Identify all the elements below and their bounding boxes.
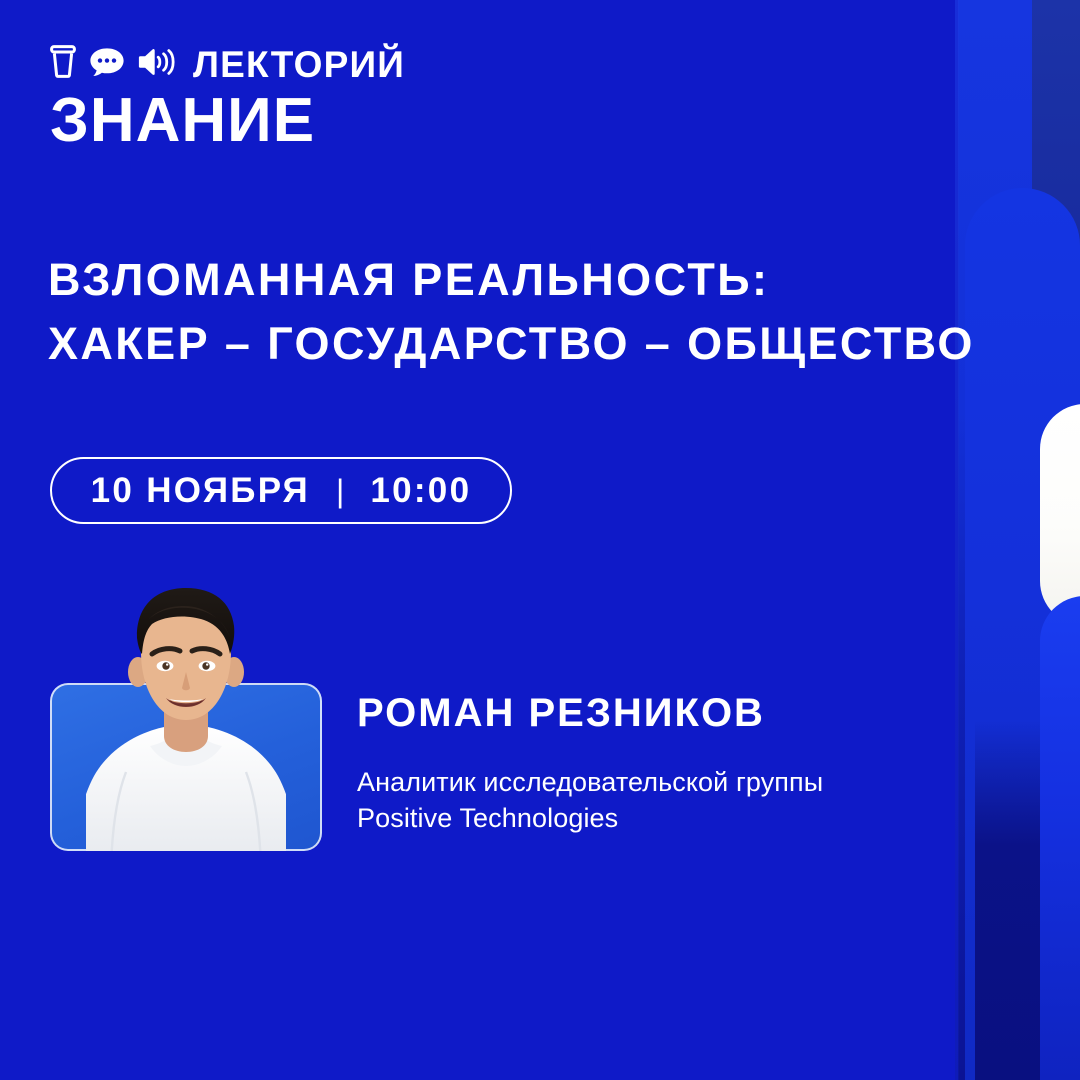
logo-lektoriy-text: ЛЕКТОРИЙ (193, 46, 405, 83)
speaker-avatar (50, 576, 322, 866)
event-time-text: 10:00 (370, 473, 471, 508)
decorative-navy-gradient (975, 720, 1045, 1080)
logo-znanie-text: ЗНАНИЕ (50, 90, 405, 152)
decorative-dark-blue-strip (1032, 0, 1080, 1080)
speaker-role-line-1: Аналитик исследовательской группы (357, 764, 957, 800)
speaker-details: РОМАН РЕЗНИКОВ Аналитик исследовательско… (357, 693, 957, 836)
decorative-arch-shape (965, 188, 1080, 1080)
decorative-bright-blue-strip (958, 0, 1032, 1080)
speaker-role-line-2: Positive Technologies (357, 800, 957, 836)
coffee-cup-icon (50, 45, 76, 83)
decorative-blue-rounded-shape (1040, 596, 1080, 1080)
event-date-text: 10 НОЯБРЯ (91, 473, 310, 508)
decorative-vertical-hairline (955, 0, 959, 1080)
speaker-name: РОМАН РЕЗНИКОВ (357, 693, 957, 733)
speaker-section: РОМАН РЕЗНИКОВ Аналитик исследовательско… (50, 576, 950, 866)
speaker-sound-icon (138, 47, 175, 82)
speaker-role: Аналитик исследовательской группы Positi… (357, 764, 957, 836)
logo-top-row: ЛЕКТОРИЙ (50, 44, 405, 84)
speech-bubble-icon (89, 47, 125, 82)
event-title-line-2: ХАКЕР – ГОСУДАРСТВО – ОБЩЕСТВО (48, 312, 948, 376)
datetime-separator: | (336, 475, 344, 507)
decorative-white-rounded-shape (1040, 404, 1080, 626)
event-announcement-poster: ЛЕКТОРИЙ ЗНАНИЕ ВЗЛОМАННАЯ РЕАЛЬНОСТЬ: Х… (0, 0, 1080, 1080)
brand-logo: ЛЕКТОРИЙ ЗНАНИЕ (50, 44, 405, 152)
event-datetime-badge: 10 НОЯБРЯ | 10:00 (50, 457, 512, 524)
event-title: ВЗЛОМАННАЯ РЕАЛЬНОСТЬ: ХАКЕР – ГОСУДАРСТ… (48, 248, 948, 376)
event-title-line-1: ВЗЛОМАННАЯ РЕАЛЬНОСТЬ: (48, 248, 948, 312)
